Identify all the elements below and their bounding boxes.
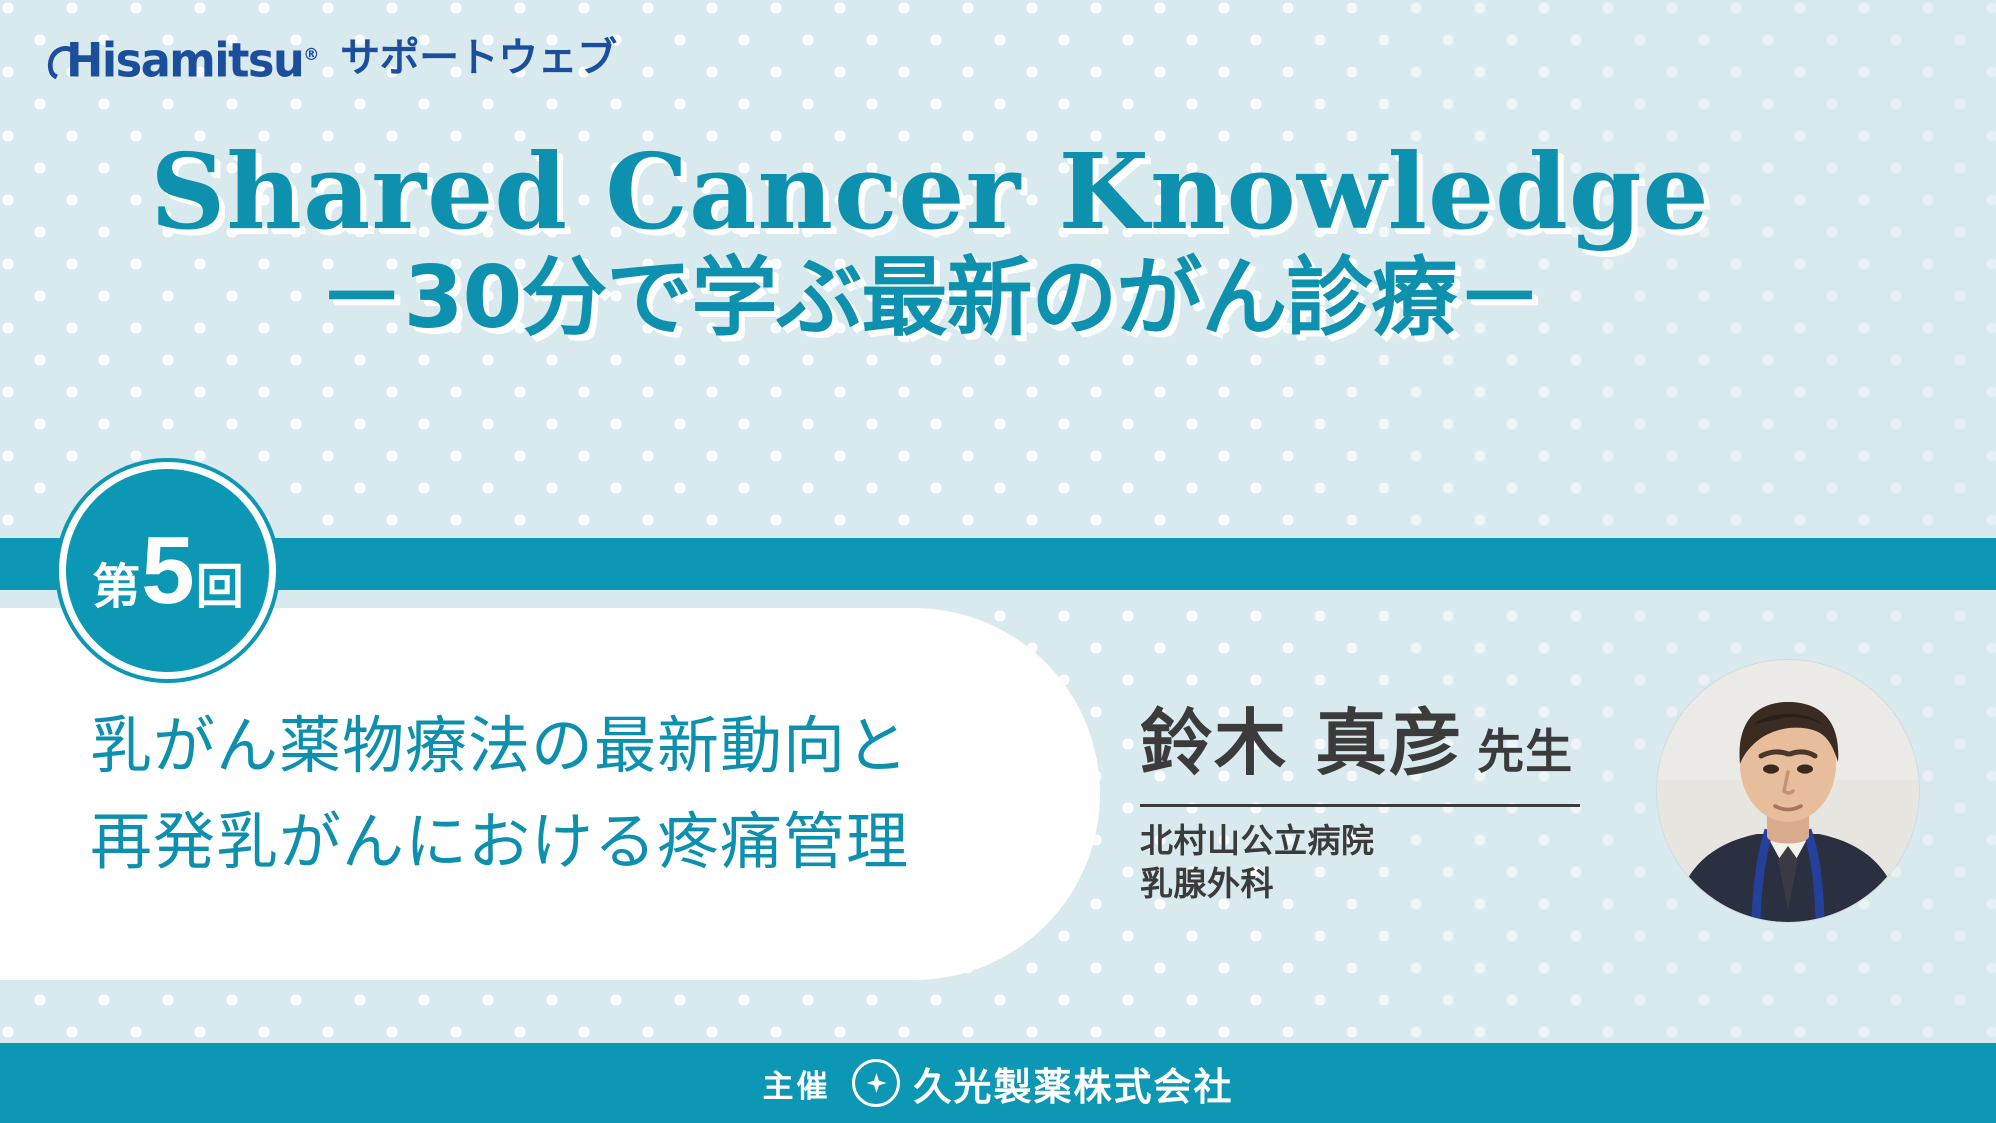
- speaker-honorific: 先生: [1477, 725, 1573, 780]
- support-web-label: サポートウェブ: [340, 38, 617, 78]
- footer-company-logo: 久光製薬株式会社: [852, 1056, 1233, 1111]
- speaker-divider: [1140, 804, 1580, 807]
- registered-mark-icon: ®: [303, 45, 318, 65]
- speaker-name: 鈴木 真彦: [1140, 701, 1463, 785]
- hisamitsu-wordmark-text: Hisamitsu: [66, 33, 303, 88]
- hisamitsu-wordmark: Hisamitsu®: [66, 32, 318, 85]
- teal-divider-band: [0, 538, 1996, 590]
- hero-title-block: Shared Cancer Knowledge －30分で学ぶ最新のがん診療－: [0, 140, 1860, 346]
- speaker-name-row: 鈴木 真彦先生: [1140, 700, 1660, 796]
- speaker-block: 鈴木 真彦先生 北村山公立病院 乳腺外科: [1140, 700, 1660, 905]
- poster-canvas: Hisamitsu® サポートウェブ Shared Cancer Knowled…: [0, 0, 1996, 1123]
- episode-badge: 第 5 回: [66, 469, 269, 672]
- episode-prefix: 第: [92, 563, 139, 611]
- lecture-title-text: 乳がん薬物療法の最新動向と 再発乳がんにおける疼痛管理: [80, 608, 1100, 980]
- episode-number: 5: [141, 523, 193, 619]
- episode-badge-inner: 第 5 回: [92, 523, 242, 619]
- speaker-affiliation-line-1: 北村山公立病院: [1140, 819, 1660, 862]
- episode-suffix: 回: [196, 563, 243, 611]
- hero-title-english: Shared Cancer Knowledge: [0, 140, 1860, 244]
- speaker-affiliation-line-2: 乳腺外科: [1140, 862, 1660, 905]
- hisamitsu-logo: Hisamitsu® サポートウェブ: [66, 32, 617, 84]
- footer-company-name: 久光製薬株式会社: [913, 1056, 1233, 1111]
- hero-title-japanese: －30分で学ぶ最新のがん診療－: [0, 250, 1860, 346]
- lecture-title-line-1: 乳がん薬物療法の最新動向と: [90, 698, 1100, 794]
- hisamitsu-emblem-icon: [852, 1059, 900, 1107]
- footer-bar: 主催 久光製薬株式会社: [0, 1043, 1996, 1123]
- speaker-portrait-illustration: [1657, 660, 1919, 922]
- lecture-title-line-2: 再発乳がんにおける疼痛管理: [90, 794, 1100, 890]
- speaker-portrait: [1657, 660, 1919, 922]
- footer-host-label: 主催: [762, 1061, 830, 1106]
